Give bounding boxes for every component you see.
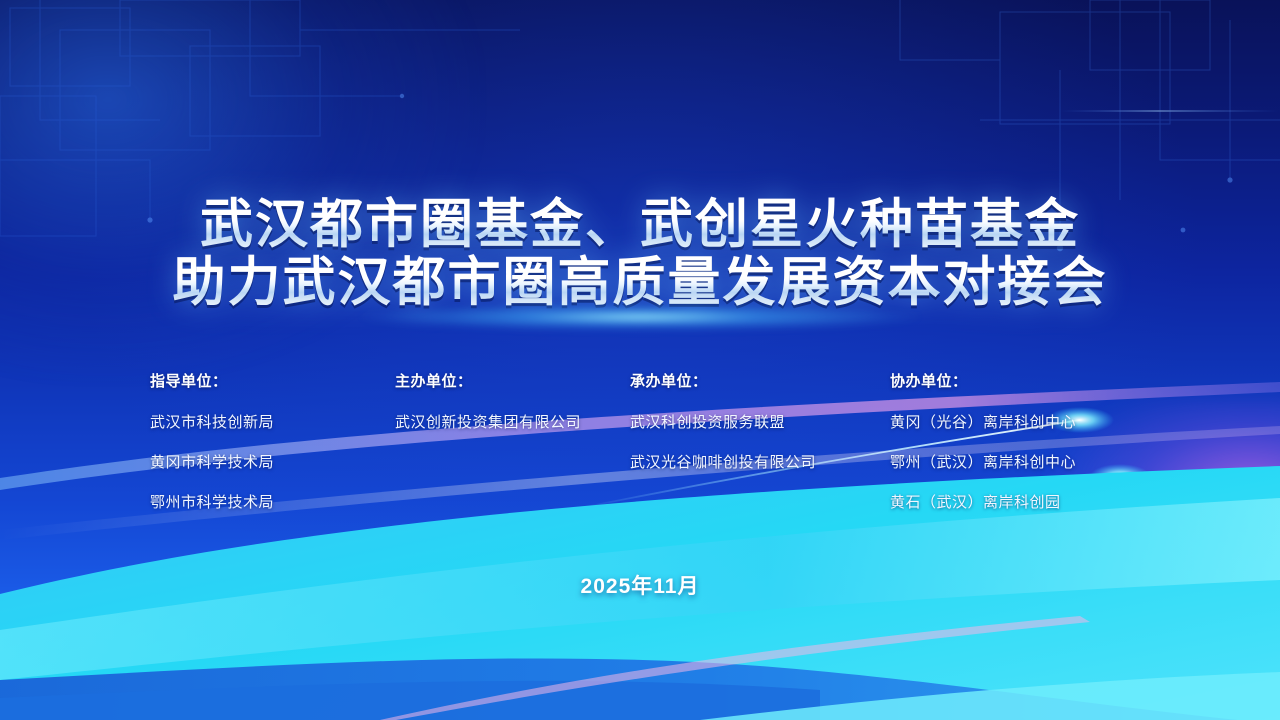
org-item: 武汉市科技创新局 [150,411,395,432]
org-column-coorganizer: 协办单位： 黄冈（光谷）离岸科创中心 鄂州（武汉）离岸科创中心 黄石（武汉）离岸… [890,370,1150,531]
org-header: 指导单位： [150,370,395,391]
title-line-1: 武汉都市圈基金、武创星火种苗基金 [0,196,1280,254]
org-column-host: 主办单位： 武汉创新投资集团有限公司 [395,370,630,531]
org-item: 黄冈市科学技术局 [150,451,395,472]
org-header: 主办单位： [395,370,630,391]
org-item: 鄂州市科学技术局 [150,491,395,512]
event-banner: 武汉都市圈基金、武创星火种苗基金 助力武汉都市圈高质量发展资本对接会 指导单位：… [0,0,1280,720]
title-underglow [360,304,920,330]
org-item: 黄石（武汉）离岸科创园 [890,491,1150,512]
page-title: 武汉都市圈基金、武创星火种苗基金 助力武汉都市圈高质量发展资本对接会 [0,196,1280,312]
org-column-guidance: 指导单位： 武汉市科技创新局 黄冈市科学技术局 鄂州市科学技术局 [150,370,395,531]
org-header: 协办单位： [890,370,1150,391]
org-item: 武汉光谷咖啡创投有限公司 [630,451,890,472]
org-item: 武汉科创投资服务联盟 [630,411,890,432]
event-date: 2025年11月 [0,570,1280,600]
organizations-section: 指导单位： 武汉市科技创新局 黄冈市科学技术局 鄂州市科学技术局 主办单位： 武… [150,370,1150,531]
org-header: 承办单位： [630,370,890,391]
org-item: 鄂州（武汉）离岸科创中心 [890,451,1150,472]
org-column-organizer: 承办单位： 武汉科创投资服务联盟 武汉光谷咖啡创投有限公司 [630,370,890,531]
org-item: 黄冈（光谷）离岸科创中心 [890,411,1150,432]
org-item: 武汉创新投资集团有限公司 [395,411,630,432]
